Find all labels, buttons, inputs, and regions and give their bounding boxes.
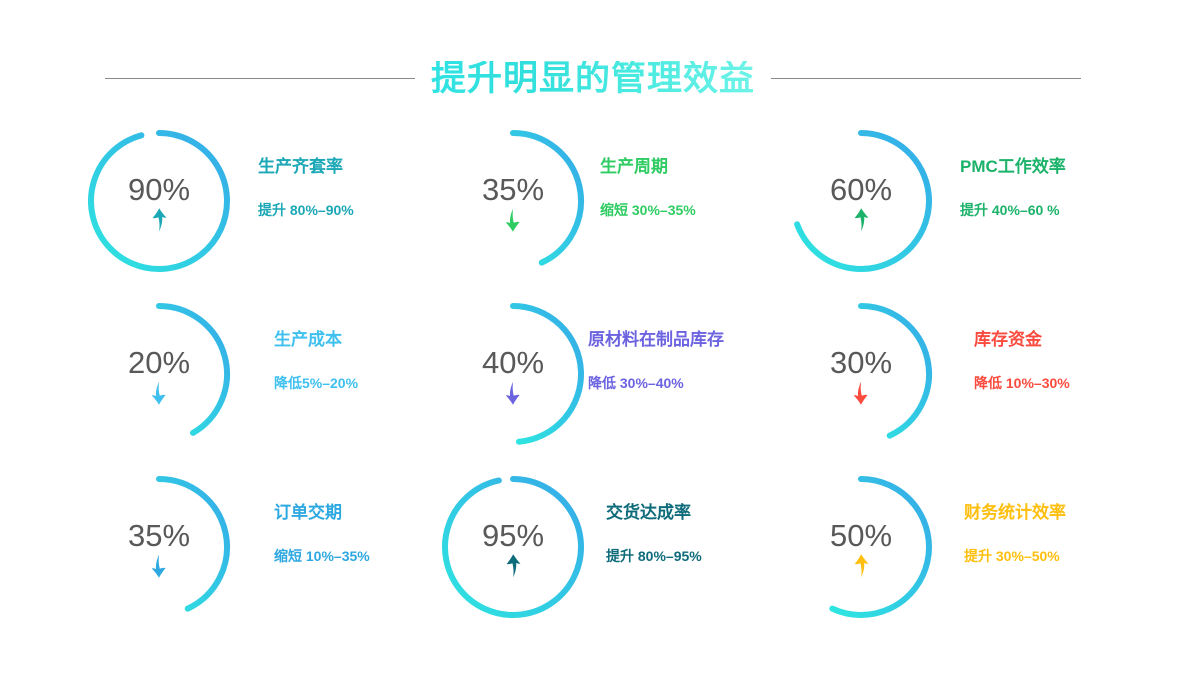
progress-ring: 50% (786, 472, 936, 622)
metric-title: 财务统计效率 (964, 504, 1066, 523)
arrow-up-icon (850, 207, 872, 233)
metric-card: 60%PMC工作效率提升 40%–60 % (764, 126, 1104, 299)
metric-subtitle: 提升 30%–50% (964, 549, 1066, 564)
metric-card: 40%原材料在制品库存降低 30%–40% (424, 299, 764, 472)
metric-card: 90%生产齐套率提升 80%–90% (84, 126, 424, 299)
metric-subtitle: 降低 10%–30% (974, 376, 1070, 391)
metric-subtitle: 降低5%–20% (274, 376, 358, 391)
ring-center: 30% (786, 299, 936, 449)
metric-card: 35%生产周期缩短 30%–35% (424, 126, 764, 299)
header-rule-right (771, 78, 1081, 79)
metric-text-block: 库存资金降低 10%–30% (974, 299, 1070, 391)
metric-card: 50%财务统计效率提升 30%–50% (764, 472, 1104, 645)
percent-value: 30% (830, 347, 892, 378)
arrow-down-icon (502, 380, 524, 406)
metric-text-block: PMC工作效率提升 40%–60 % (960, 126, 1066, 218)
percent-value: 50% (830, 520, 892, 551)
metric-title: 生产齐套率 (258, 158, 354, 177)
metric-text-block: 生产周期缩短 30%–35% (600, 126, 696, 218)
metric-card: 95%交货达成率提升 80%–95% (424, 472, 764, 645)
percent-value: 60% (830, 174, 892, 205)
metric-title: 生产周期 (600, 158, 696, 177)
ring-center: 50% (786, 472, 936, 622)
page-title: 提升明显的管理效益 (431, 61, 755, 96)
arrow-down-icon (850, 380, 872, 406)
ring-center: 40% (438, 299, 588, 449)
metric-card: 30%库存资金降低 10%–30% (764, 299, 1104, 472)
ring-center: 90% (84, 126, 234, 276)
metric-subtitle: 提升 80%–90% (258, 203, 354, 218)
metrics-grid: 90%生产齐套率提升 80%–90%35%生产周期缩短 30%–35%60%PM… (84, 126, 1104, 646)
metric-title: 原材料在制品库存 (588, 331, 724, 350)
metric-subtitle: 提升 80%–95% (606, 549, 702, 564)
progress-ring: 35% (438, 126, 588, 276)
ring-center: 95% (438, 472, 588, 622)
ring-center: 20% (84, 299, 234, 449)
progress-ring: 95% (438, 472, 588, 622)
metric-text-block: 生产成本降低5%–20% (274, 299, 358, 391)
metric-title: 库存资金 (974, 331, 1070, 350)
metric-title: 订单交期 (274, 504, 370, 523)
metric-title: 交货达成率 (606, 504, 702, 523)
progress-ring: 60% (786, 126, 936, 276)
metric-subtitle: 降低 30%–40% (588, 376, 724, 391)
percent-value: 90% (128, 174, 190, 205)
percent-value: 35% (128, 520, 190, 551)
progress-ring: 35% (84, 472, 234, 622)
metric-subtitle: 缩短 10%–35% (274, 549, 370, 564)
arrow-down-icon (148, 553, 170, 579)
ring-center: 35% (438, 126, 588, 276)
metric-title: PMC工作效率 (960, 158, 1066, 177)
arrow-up-icon (148, 207, 170, 233)
metric-text-block: 生产齐套率提升 80%–90% (258, 126, 354, 218)
metric-text-block: 订单交期缩短 10%–35% (274, 472, 370, 564)
progress-ring: 30% (786, 299, 936, 449)
arrow-down-icon (502, 207, 524, 233)
percent-value: 95% (482, 520, 544, 551)
arrow-up-icon (502, 553, 524, 579)
ring-center: 60% (786, 126, 936, 276)
progress-ring: 90% (84, 126, 234, 276)
percent-value: 20% (128, 347, 190, 378)
metric-text-block: 财务统计效率提升 30%–50% (964, 472, 1066, 564)
metric-text-block: 交货达成率提升 80%–95% (606, 472, 702, 564)
metric-card: 35%订单交期缩短 10%–35% (84, 472, 424, 645)
page-header: 提升明显的管理效益 (0, 52, 1186, 104)
metric-title: 生产成本 (274, 331, 358, 350)
progress-ring: 40% (438, 299, 588, 449)
header-rule-left (105, 78, 415, 79)
percent-value: 40% (482, 347, 544, 378)
metric-card: 20%生产成本降低5%–20% (84, 299, 424, 472)
progress-ring: 20% (84, 299, 234, 449)
ring-center: 35% (84, 472, 234, 622)
metric-subtitle: 缩短 30%–35% (600, 203, 696, 218)
arrow-down-icon (148, 380, 170, 406)
percent-value: 35% (482, 174, 544, 205)
arrow-up-icon (850, 553, 872, 579)
metric-text-block: 原材料在制品库存降低 30%–40% (588, 299, 724, 391)
metric-subtitle: 提升 40%–60 % (960, 203, 1066, 218)
